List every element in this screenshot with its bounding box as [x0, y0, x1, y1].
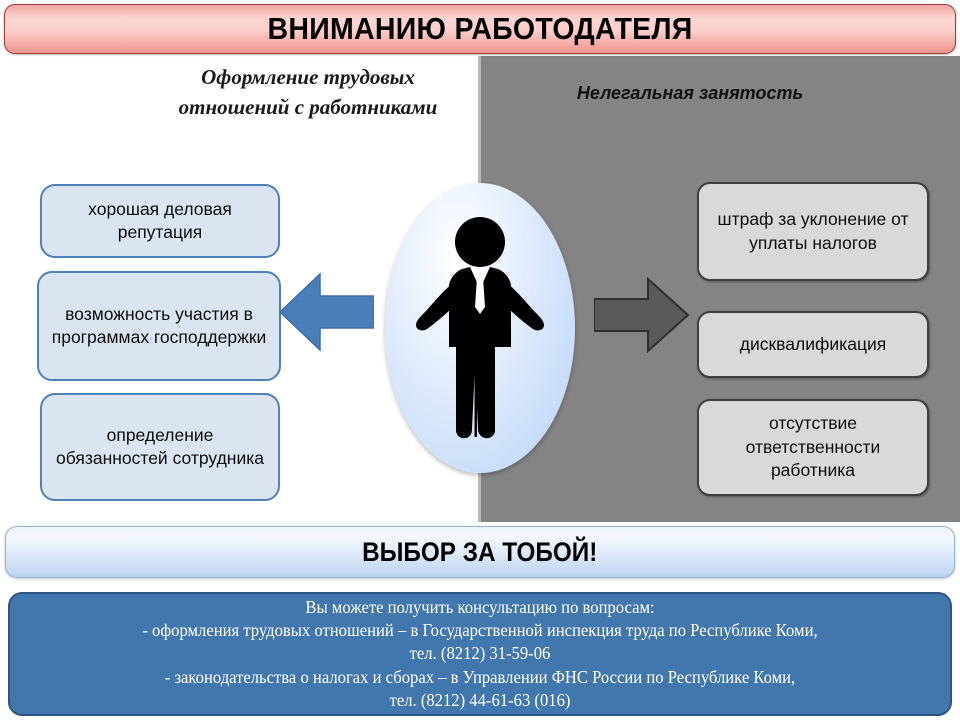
risk-box-2: дисквалификация [697, 311, 929, 378]
benefit-box-1: хорошая деловая репутация [40, 184, 280, 258]
risk-box-1: штраф за уклонение от уплаты налогов [697, 182, 929, 281]
header-banner: ВНИМАНИЮ РАБОТОДАТЕЛЯ [4, 4, 956, 54]
footer-line-3: тел. (8212) 31-59-06 [47, 642, 913, 665]
infographic-poster: ВНИМАНИЮ РАБОТОДАТЕЛЯ Оформление трудовы… [0, 0, 960, 720]
footer-line-2: - оформления трудовых отношений – в Госу… [47, 619, 913, 642]
person-silhouette-icon [415, 215, 545, 445]
choice-banner: ВЫБОР ЗА ТОБОЙ! [5, 526, 955, 578]
benefit-box-3: определение обязанностей сотрудника [40, 393, 280, 501]
right-arrow-icon [594, 277, 690, 353]
risk-box-3: отсутствие ответственности работника [697, 399, 929, 496]
footer-contact-banner: Вы можете получить консультацию по вопро… [8, 592, 952, 716]
choice-banner-text: ВЫБОР ЗА ТОБОЙ! [362, 537, 597, 568]
right-section-title: Нелегальная занятость [540, 80, 840, 107]
footer-line-4: - законодательства о налогах и сборах – … [47, 666, 913, 689]
footer-line-1: Вы можете получить консультацию по вопро… [47, 596, 913, 619]
benefit-box-2: возможность участия в программах господд… [37, 271, 281, 381]
left-arrow-icon [278, 272, 374, 352]
footer-line-5: тел. (8212) 44-61-63 (016) [47, 689, 913, 712]
left-section-title: Оформление трудовых отношений с работник… [148, 62, 468, 123]
page-title: ВНИМАНИЮ РАБОТОДАТЕЛЯ [267, 11, 692, 47]
